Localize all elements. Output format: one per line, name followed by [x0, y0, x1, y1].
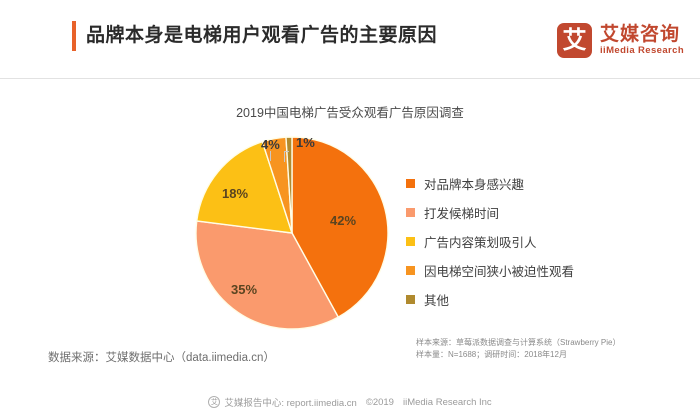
legend-swatch-icon-1: [406, 208, 415, 217]
legend-label-3: 因电梯空间狭小被迫性观看: [424, 261, 574, 280]
legend-item-3[interactable]: 因电梯空间狭小被迫性观看: [406, 256, 666, 285]
page-footer: 艾 艾媒报告中心: report.iimedia.cn ©2019 iiMedi…: [0, 389, 700, 415]
pie-slice-label-1: 35%: [231, 282, 257, 297]
pie-slice-label-2: 18%: [222, 186, 248, 201]
sample-size-line: 样本量：N=1688；调研时间：2018年12月: [416, 349, 686, 361]
logo-name-cn: 艾媒咨询: [600, 24, 684, 45]
logo-mark-icon: 艾: [557, 23, 592, 58]
legend-label-0: 对品牌本身感兴趣: [424, 174, 524, 193]
data-source-note: 数据来源：艾媒数据中心（data.iimedia.cn）: [48, 349, 275, 365]
chart-card: 2019中国电梯广告受众观看广告原因调查 42% 35% 18% 4% 1% 对…: [0, 78, 700, 390]
pie-slice-label-4: 1%: [296, 135, 315, 150]
legend-swatch-icon-3: [406, 266, 415, 275]
headline-accent-bar: [72, 21, 76, 51]
page-header: 品牌本身是电梯用户观看广告的主要原因 艾 艾媒咨询 iiMedia Resear…: [0, 0, 700, 78]
legend-item-2[interactable]: 广告内容策划吸引人: [406, 227, 666, 256]
sample-source-line: 样本来源：草莓派数据调查与计算系统（Strawberry Pie）: [416, 337, 686, 349]
pie-leader-line-3: [270, 151, 271, 161]
legend-label-4: 其他: [424, 290, 449, 309]
footer-company: iiMedia Research Inc: [403, 397, 492, 408]
logo-text: 艾媒咨询 iiMedia Research: [600, 24, 684, 57]
legend-item-0[interactable]: 对品牌本身感兴趣: [406, 169, 666, 198]
pie-slice-label-3: 4%: [261, 137, 280, 152]
pie-chart-svg: [194, 135, 390, 331]
brand-logo: 艾 艾媒咨询 iiMedia Research: [557, 20, 684, 60]
footer-report-center[interactable]: 艾媒报告中心: report.iimedia.cn: [224, 395, 357, 409]
pie-slice-label-0: 42%: [330, 213, 356, 228]
legend-swatch-icon-4: [406, 295, 415, 304]
pie-leader-elbow-4: [284, 151, 289, 152]
chart-legend: 对品牌本身感兴趣 打发候梯时间 广告内容策划吸引人 因电梯空间狭小被迫性观看 其…: [406, 169, 666, 314]
legend-label-1: 打发候梯时间: [424, 203, 499, 222]
legend-swatch-icon-2: [406, 237, 415, 246]
footer-content: 艾 艾媒报告中心: report.iimedia.cn ©2019 iiMedi…: [208, 395, 491, 409]
sample-note: 样本来源：草莓派数据调查与计算系统（Strawberry Pie） 样本量：N=…: [416, 337, 686, 361]
pie-leader-line-4: [284, 151, 285, 162]
chart-title: 2019中国电梯广告受众观看广告原因调查: [0, 102, 700, 121]
legend-item-4[interactable]: 其他: [406, 285, 666, 314]
logo-name-en: iiMedia Research: [600, 45, 684, 57]
footer-logo-icon: 艾: [208, 396, 220, 408]
report-page: 品牌本身是电梯用户观看广告的主要原因 艾 艾媒咨询 iiMedia Resear…: [0, 0, 700, 415]
legend-swatch-icon-0: [406, 179, 415, 188]
legend-item-1[interactable]: 打发候梯时间: [406, 198, 666, 227]
page-title: 品牌本身是电梯用户观看广告的主要原因: [86, 20, 437, 47]
pie-chart: [194, 135, 390, 331]
footer-copyright: ©2019: [366, 397, 394, 408]
legend-label-2: 广告内容策划吸引人: [424, 232, 537, 251]
